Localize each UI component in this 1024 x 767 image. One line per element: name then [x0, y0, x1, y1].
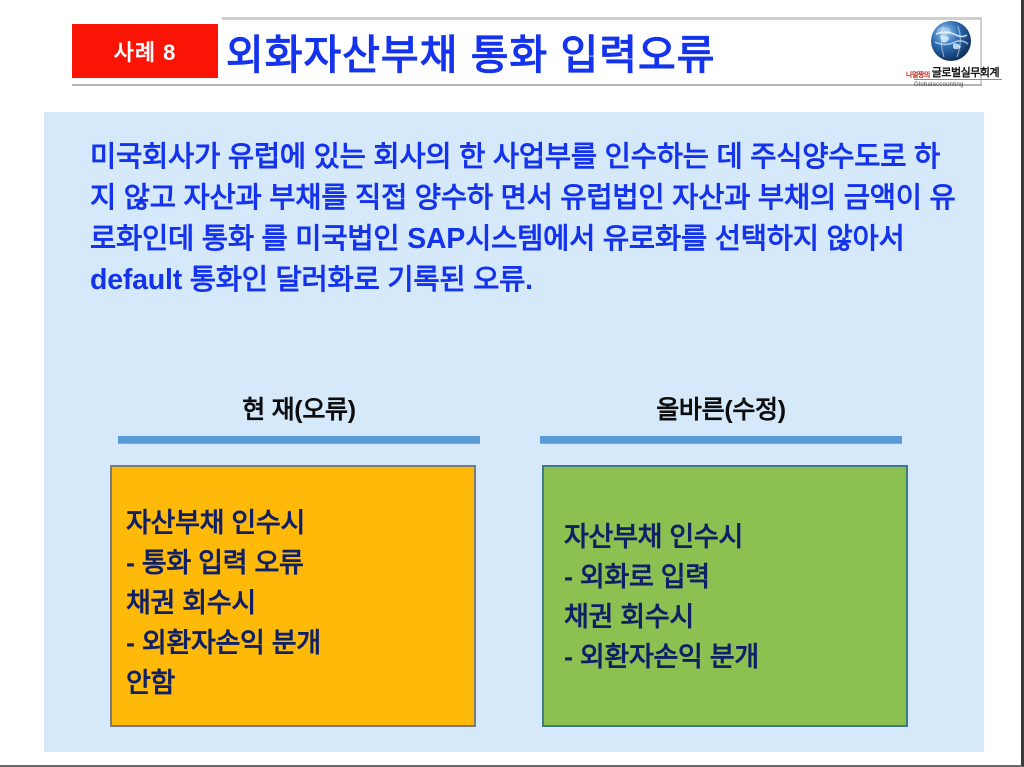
column-rule-correct	[540, 436, 902, 444]
current-error-box: 자산부채 인수시 - 통화 입력 오류 채권 회수시 - 외환자손익 분개 안함	[110, 465, 476, 727]
logo-brand-name-en: Globalaccounting	[914, 82, 964, 88]
slide: 사례 8 외화자산부채 통화 입력오류	[0, 0, 1024, 767]
corrected-box: 자산부채 인수시 - 외화로 입력 채권 회수시 - 외환자손익 분개	[542, 465, 908, 727]
slide-header: 사례 8 외화자산부채 통화 입력오류	[0, 0, 1024, 100]
logo-brand-name: 글로벌실무회계	[932, 64, 999, 80]
column-rule-current	[118, 436, 480, 444]
description-paragraph: 미국회사가 유럽에 있는 회사의 한 사업부를 인수하는 데 주식양수도로 하지…	[90, 137, 962, 301]
case-number-badge: 사례 8	[72, 24, 218, 78]
content-panel: 미국회사가 유럽에 있는 회사의 한 사업부를 인수하는 데 주식양수도로 하지…	[44, 112, 984, 752]
column-header-correct: 올바른(수정)	[540, 390, 902, 426]
logo-divider	[914, 79, 1002, 80]
column-header-current: 현 재(오류)	[118, 390, 480, 426]
page-title: 외화자산부채 통화 입력오류	[226, 20, 826, 82]
logo-text-row: 나멀짱의 글로벌실무회계	[906, 64, 1004, 80]
globe-icon	[930, 20, 972, 62]
brand-logo: 나멀짱의 글로벌실무회계 Globalaccounting	[906, 18, 1004, 98]
header-frame-bottom-line	[72, 84, 982, 86]
